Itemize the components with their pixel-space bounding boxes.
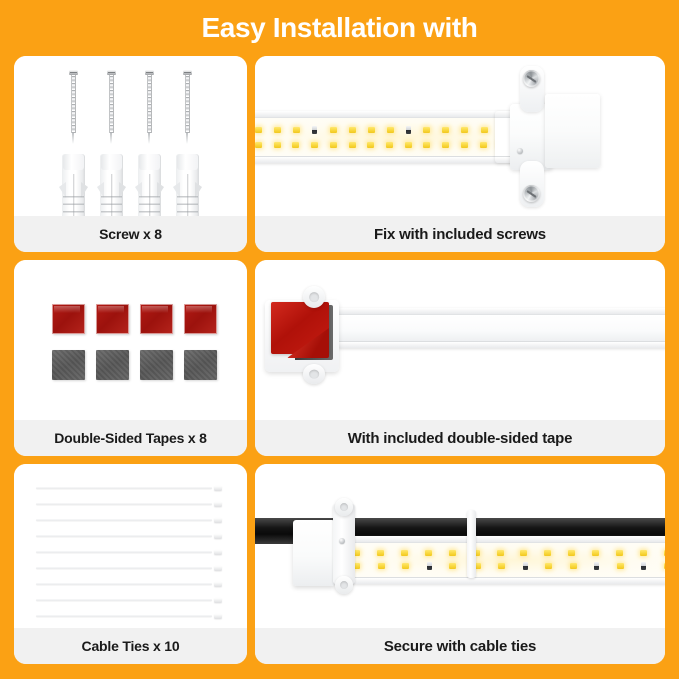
product-infographic: Easy Installation with [0,0,679,679]
bracket-ring-top [303,286,325,308]
wall-anchor-icon [100,154,123,216]
led-bar-endcap [545,94,600,168]
screw-icon [107,70,116,144]
gray-tape-square [96,350,129,380]
with-tape-artwork [255,260,665,420]
wall-anchor-icon [176,154,199,216]
cable-tie-head-left [335,498,353,516]
page-title: Easy Installation with [0,0,679,56]
cable-tie-icon [36,598,222,602]
led-light-bar [347,536,665,584]
panel-caption: Fix with included screws [255,216,665,252]
led-chip-grid [351,543,665,577]
panel-screws-parts[interactable]: Screw x 8 [14,56,247,252]
cable-tie-wrap-right [467,510,476,578]
panel-row-1: Screw x 8 [14,56,665,252]
panel-tapes-parts[interactable]: Double-Sided Tapes x 8 [14,260,247,456]
panel-secure-with-ties[interactable]: Secure with cable ties [255,464,665,664]
cable-tie-icon [36,486,222,490]
gray-tape-square [140,350,173,380]
mounting-screw-icon [523,185,540,202]
bracket-set-screw-icon [517,148,523,154]
cable-ties-artwork [14,464,247,628]
fix-with-screws-artwork [255,56,665,216]
panel-caption: Secure with cable ties [255,628,665,664]
screw-icon [145,70,154,144]
cable-tie-icon [36,518,222,522]
gray-tape-square [184,350,217,380]
panel-caption: Screw x 8 [14,216,247,252]
screws-artwork [14,56,247,216]
screw-icon [183,70,192,144]
red-tape-square [96,304,129,334]
red-tape-square [184,304,217,334]
screws-group [14,56,247,216]
panel-caption: With included double-sided tape [255,420,665,456]
cable-tie-icon [36,582,222,586]
red-tape-square [52,304,85,334]
cable-tie-wrap-left [333,504,355,584]
cable-tie-icon [36,614,222,618]
red-tape-square [140,304,173,334]
mounting-screw-icon [523,70,540,87]
panel-fix-with-screws[interactable]: Fix with included screws [255,56,665,252]
screw-icon [69,70,78,144]
led-bar-profile [337,308,665,348]
bracket-ring-bottom [303,364,325,384]
wall-anchor-icon [62,154,85,216]
end-connector-box [293,520,335,586]
panel-row-2: Double-Sided Tapes x 8 [14,260,665,456]
bracket-set-screw-icon [339,538,345,544]
panel-caption: Double-Sided Tapes x 8 [14,420,247,456]
cable-tie-icon [36,566,222,570]
panel-grid: Screw x 8 [14,56,665,664]
panel-caption: Cable Ties x 10 [14,628,247,664]
panel-with-tape[interactable]: With included double-sided tape [255,260,665,456]
cable-tie-icon [36,550,222,554]
cable-tie-tail-left [335,576,353,594]
tapes-artwork [14,260,247,420]
cable-tie-icon [36,534,222,538]
wall-anchor-icon [138,154,161,216]
panel-cable-ties-parts[interactable]: Cable Ties x 10 [14,464,247,664]
secure-with-ties-artwork [255,464,665,628]
panel-row-3: Cable Ties x 10 [14,464,665,664]
cable-tie-icon [36,502,222,506]
gray-tape-square [52,350,85,380]
